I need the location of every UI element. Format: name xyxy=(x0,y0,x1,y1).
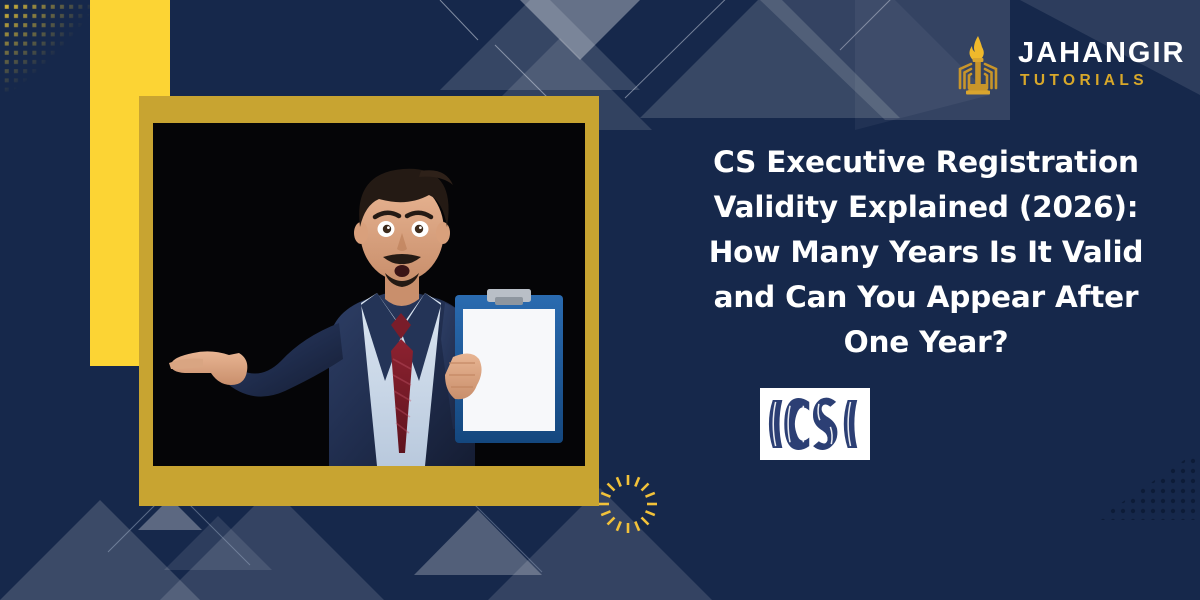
page-title: CS Executive Registration Validity Expla… xyxy=(662,140,1190,365)
title-line: CS Executive Registration xyxy=(662,140,1190,185)
hero-photo xyxy=(153,123,585,466)
title-line: How Many Years Is It Valid xyxy=(662,230,1190,275)
title-line: and Can You Appear After xyxy=(662,275,1190,320)
brand-logo-text: JAHANGIR TUTORIALS xyxy=(1018,39,1185,89)
title-line: Validity Explained (2026): xyxy=(662,185,1190,230)
title-line: One Year? xyxy=(662,320,1190,365)
brand-subtitle: TUTORIALS xyxy=(1018,73,1185,89)
torch-book-logo-icon xyxy=(950,33,1006,95)
brand-logo[interactable]: JAHANGIR TUTORIALS xyxy=(950,28,1180,100)
yellow-halftone-dots xyxy=(0,0,144,134)
navy-triangle-dot-grid xyxy=(1060,448,1200,538)
badge-row xyxy=(760,378,1090,470)
icsi-logo[interactable] xyxy=(760,388,870,460)
photo-frame xyxy=(139,96,599,506)
poster-canvas: JAHANGIR TUTORIALS CS Executive Registra… xyxy=(0,0,1200,600)
businessman-illustration xyxy=(153,123,585,466)
icsi-wordmark-icon xyxy=(767,394,863,454)
brand-name: JAHANGIR xyxy=(1018,39,1185,68)
